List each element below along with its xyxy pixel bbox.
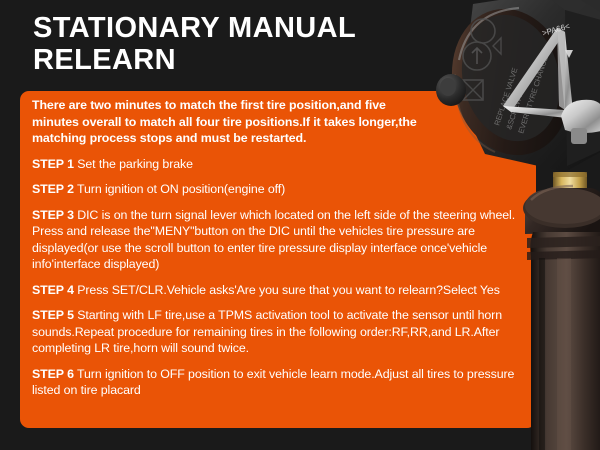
step-item-4: STEP 4 Press SET/CLR.Vehicle asks'Are yo… bbox=[32, 282, 502, 299]
step-label-3: STEP 3 bbox=[32, 208, 74, 222]
step-text-3: DIC is on the turn signal lever which lo… bbox=[32, 208, 515, 272]
svg-text:>PA66<: >PA66< bbox=[541, 21, 571, 38]
step-text-4: Press SET/CLR.Vehicle asks'Are you sure … bbox=[77, 283, 500, 297]
step-item-2: STEP 2 Turn ignition ot ON position(engi… bbox=[32, 181, 432, 198]
step-text-2: Turn ignition ot ON position(engine off) bbox=[77, 182, 285, 196]
step-text-5: Starting with LF tire,use a TPMS activat… bbox=[32, 308, 502, 355]
step-item-3: STEP 3 DIC is on the turn signal lever w… bbox=[32, 207, 524, 273]
sensor-emboss-icons bbox=[463, 19, 501, 100]
sensor-nut bbox=[561, 100, 600, 144]
sensor-label-marks: >PA66< bbox=[541, 21, 573, 58]
step-item-5: STEP 5 Starting with LF tire,use a TPMS … bbox=[32, 307, 524, 357]
instructions-content: There are two minutes to match the first… bbox=[32, 97, 528, 399]
poster-root: STATIONARY MANUAL RELEARN There are two … bbox=[0, 0, 600, 450]
step-label-4: STEP 4 bbox=[32, 283, 74, 297]
step-item-1: STEP 1 Set the parking brake bbox=[32, 156, 432, 173]
step-item-6: STEP 6 Turn ignition to OFF position to … bbox=[32, 366, 524, 399]
page-title: STATIONARY MANUAL RELEARN bbox=[33, 12, 453, 77]
valve-brass-collar bbox=[553, 172, 587, 240]
step-label-5: STEP 5 bbox=[32, 308, 74, 322]
intro-paragraph: There are two minutes to match the first… bbox=[32, 97, 432, 147]
step-label-6: STEP 6 bbox=[32, 367, 74, 381]
step-label-1: STEP 1 bbox=[32, 157, 74, 171]
instructions-panel: There are two minutes to match the first… bbox=[20, 91, 536, 428]
step-text-1: Set the parking brake bbox=[77, 157, 193, 171]
step-label-2: STEP 2 bbox=[32, 182, 74, 196]
step-text-6: Turn ignition to OFF position to exit ve… bbox=[32, 367, 514, 398]
valve-stem-shaft bbox=[527, 232, 600, 450]
